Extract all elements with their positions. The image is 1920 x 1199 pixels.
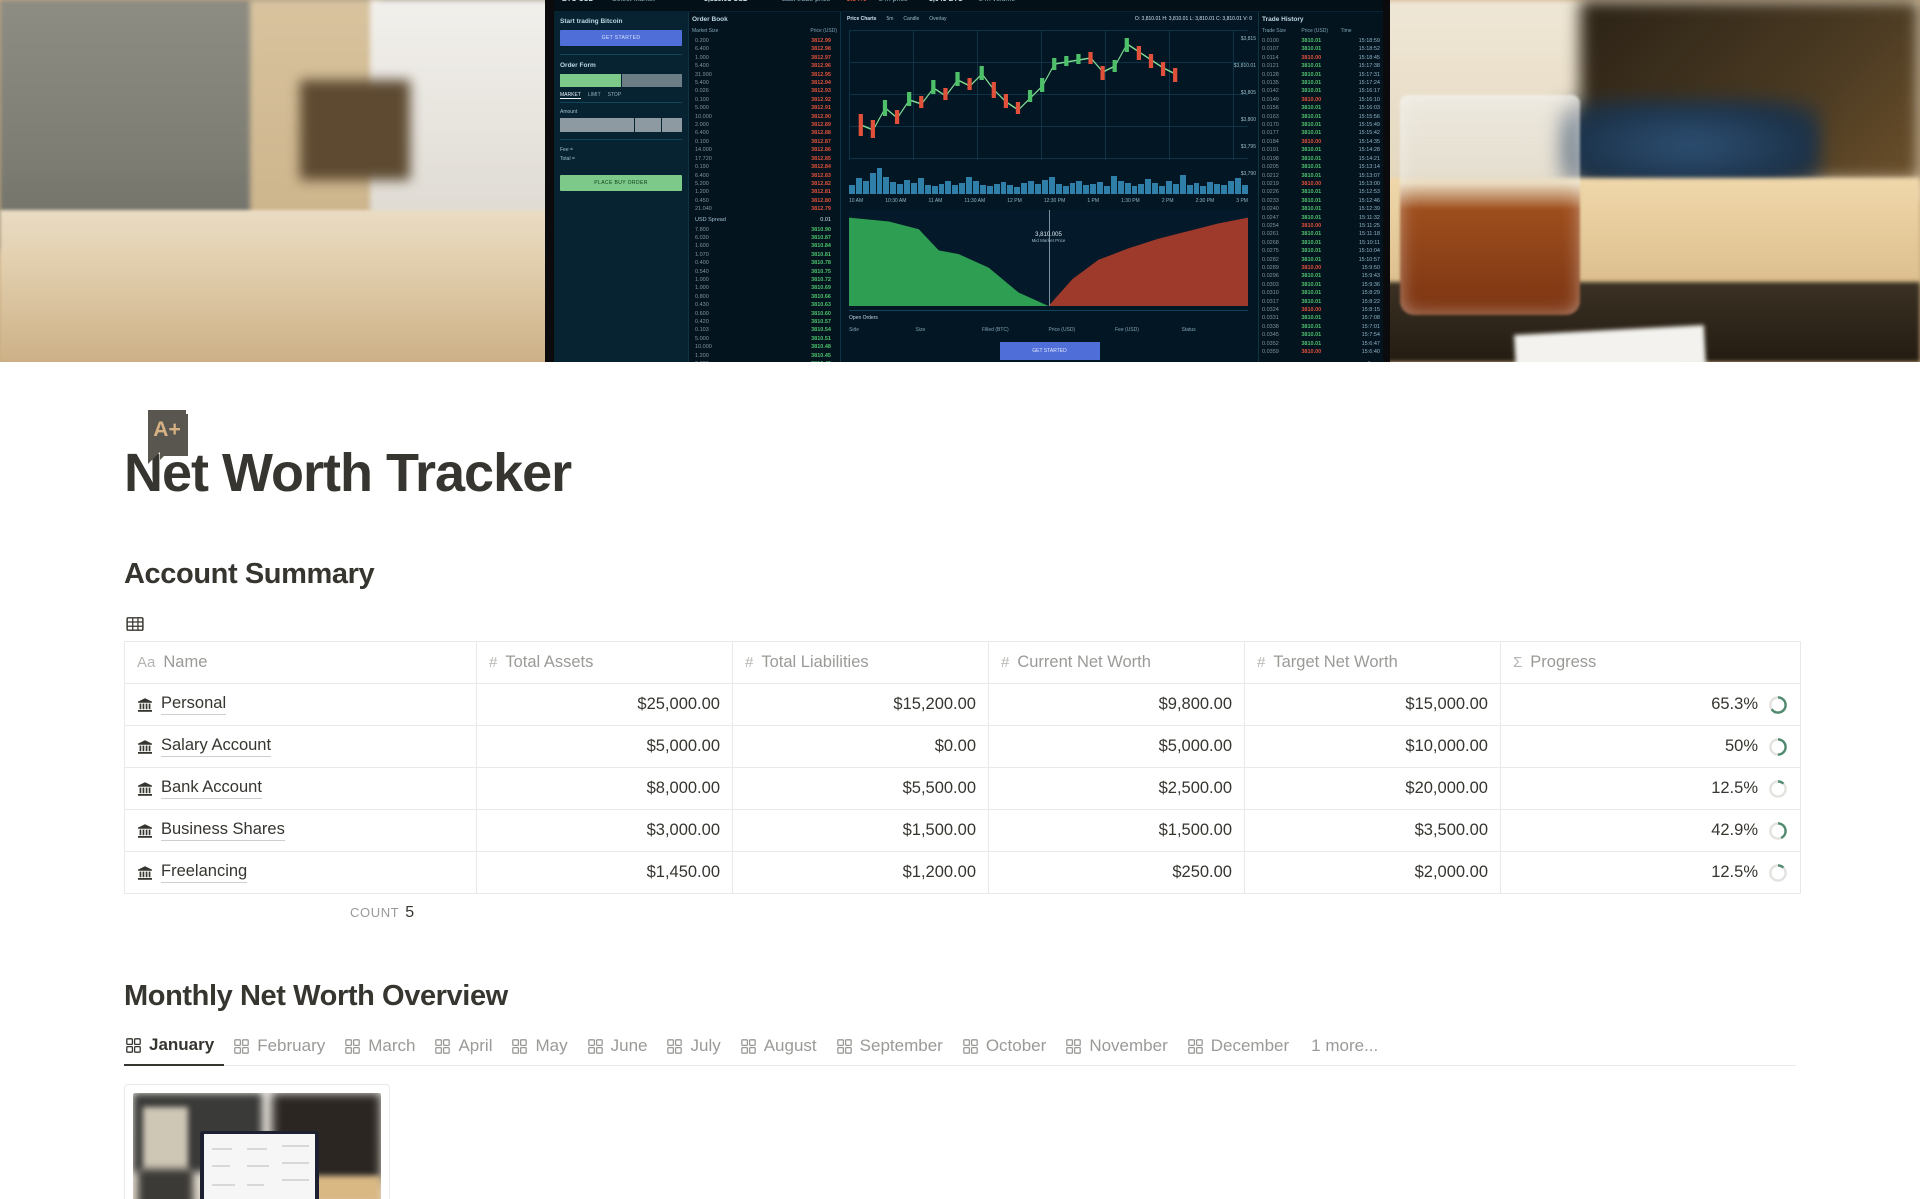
trade-history-column: Price (USD) [1301,28,1340,34]
trade-history-row: 0.02473810.0115:11:32 [1262,214,1380,222]
order-book-bid: 10.0003810.48 [692,343,837,351]
column-label: Total Assets [505,653,593,672]
tab-label: June [611,1036,648,1056]
open-orders-column: Side [849,327,916,333]
order-book-bid: 1.0703810.81 [692,251,837,259]
column-header-total-assets[interactable]: #Total Assets [477,642,733,684]
order-book-ask: 5.4003812.96 [692,62,837,70]
trade-history-row: 0.03103810.0115:8:29 [1262,289,1380,297]
time-tick: 1 PM [1087,198,1099,204]
ticker-symbol: BTC-USD [562,0,594,3]
trade-history-row: 0.01003810.0115:18:59 [1262,37,1380,45]
cell-progress[interactable]: 50% [1501,726,1801,768]
trade-history-row: 0.01143810.0015:18:45 [1262,54,1380,62]
cell-target-net-worth[interactable]: $20,000.00 [1245,768,1501,810]
tab-label: July [690,1036,720,1056]
column-header-progress[interactable]: ΣProgress [1501,642,1801,684]
trade-history-row: 0.01633810.0115:15:56 [1262,113,1380,121]
trade-history-row: 0.02263810.0115:12:53 [1262,188,1380,196]
tab-july[interactable]: July [657,1036,730,1065]
open-orders-section: Open Orders SideSizeFilled (BTC)Price (U… [849,310,1248,333]
tab-label: February [257,1036,325,1056]
trade-history-row: 0.03383810.0115:7:01 [1262,323,1380,331]
gallery-view-icon [667,1039,682,1054]
order-book-ask: 5.0003812.91 [692,104,837,112]
order-book-ask: 0.1003812.92 [692,96,837,104]
trade-history-row: 0.02193810.0015:13:00 [1262,180,1380,188]
trade-history-row: 0.01773810.0115:15:42 [1262,129,1380,137]
progress-label: 42.9% [1711,821,1758,840]
bank-icon [137,823,153,839]
cell-progress[interactable]: 65.3% [1501,684,1801,726]
progress-ring [1768,863,1788,883]
progress-label: 12.5% [1711,863,1758,882]
order-book-bid: 0.5403810.75 [692,268,837,276]
order-book-ask: 5.4003812.94 [692,79,837,87]
time-tick: 11:30 AM [964,198,985,204]
trade-history-row: 0.02123810.0115:13:07 [1262,172,1380,180]
trade-panel: Start trading Bitcoin GET STARTED Order … [554,12,689,362]
order-book-ask: 0.1903812.84 [692,163,837,171]
trade-history-row: 0.02823810.0115:10:57 [1262,256,1380,264]
coffee-jar [1400,95,1580,315]
cell-total-liabilities[interactable]: $1,200.00 [733,852,989,894]
progress-label: 12.5% [1711,779,1758,798]
trade-history-row: 0.01563810.0115:16:03 [1262,104,1380,112]
cell-total-liabilities[interactable]: $1,500.00 [733,810,989,852]
trade-history-row: 0.02053810.0115:13:14 [1262,163,1380,171]
depth-chart: 3,810.005 Mid Market Price [849,210,1248,306]
trade-history-row: 0.01913810.0115:14:28 [1262,146,1380,154]
cell-progress[interactable]: 42.9% [1501,810,1801,852]
bank-icon [137,697,153,713]
order-book-bid: 0.8003810.66 [692,293,837,301]
time-tick: 2 PM [1162,198,1174,204]
order-tab-market: MARKET [560,92,581,99]
gallery-view-icon [963,1039,978,1054]
volume-bars [849,164,1248,194]
order-book-bid: 0.8003810.42 [692,360,837,362]
notebook-a-plus-icon: A+ [140,406,208,474]
order-tab-limit: LIMIT [588,92,601,99]
order-book-bid: 7.8003810.90 [692,226,837,234]
cell-total-liabilities[interactable]: $0.00 [733,726,989,768]
trade-history-row: 0.02963810.0115:9:43 [1262,272,1380,280]
trade-history-row: 0.02403810.0115:12:39 [1262,205,1380,213]
tab-june[interactable]: June [578,1036,658,1065]
cell-current-net-worth[interactable]: $2,500.00 [989,768,1245,810]
gallery-view-icon [837,1039,852,1054]
column-label: Progress [1530,653,1596,672]
order-book-ask: 6.4003812.88 [692,129,837,137]
cell-name[interactable]: Business Shares [125,810,477,852]
order-book-ask: 0.0263812.93 [692,87,837,95]
tab-label: April [458,1036,492,1056]
price-chart-panel: Price Charts 5m Candle Overlay O: 3,810.… [841,12,1258,362]
time-tick: 1:30 PM [1121,198,1140,204]
tab-label: August [764,1036,817,1056]
tab-may[interactable]: May [502,1036,577,1065]
order-book-bid: 1.2003810.45 [692,352,837,360]
cell-total-assets[interactable]: $25,000.00 [477,684,733,726]
cell-total-liabilities[interactable]: $15,200.00 [733,684,989,726]
order-book-ask: 6.4003812.83 [692,172,837,180]
table-header-row: AaName #Total Assets #Total Liabilities … [125,642,1801,684]
order-book-ask: 0.2003812.99 [692,37,837,45]
time-tick: 3 PM [1236,198,1248,204]
trade-history-row: 0.02683810.0115:10:11 [1262,239,1380,247]
column-label: Total Liabilities [761,653,868,672]
cell-total-assets[interactable]: $3,000.00 [477,810,733,852]
trade-history-row: 0.01983810.0115:14:21 [1262,155,1380,163]
chart-interval: 5m [886,16,893,22]
volume-label: 24h volume [979,0,1015,3]
gallery-view [124,1084,1920,1199]
chart-ohlc: O: 3,810.01 H: 3,810.01 L: 3,810.01 C: 3… [1135,16,1252,22]
fee-label: Fee = [560,147,682,153]
cell-target-net-worth[interactable]: $10,000.00 [1245,726,1501,768]
gallery-card[interactable] [124,1084,390,1199]
trade-history-column: Time [1341,28,1380,34]
cell-current-net-worth[interactable]: $5,000.00 [989,726,1245,768]
page-icon[interactable]: A+ [140,406,208,474]
bank-icon [137,865,153,881]
order-book-title: Order Book [692,16,837,23]
trade-history-row: 0.01213810.0115:17:38 [1262,62,1380,70]
chart-overlay: Overlay [929,16,946,22]
trade-history-row: 0.02893810.0015:9:50 [1262,264,1380,272]
cell-target-net-worth[interactable]: $2,000.00 [1245,852,1501,894]
trade-history-row: 0.02753810.0115:10:04 [1262,247,1380,255]
order-book-ask: 0.1003812.87 [692,138,837,146]
table-row[interactable]: Freelancing$1,450.00$1,200.00$250.00$2,0… [125,852,1801,894]
gallery-view-icon [126,1038,141,1053]
trade-history-row: 0.03453810.0115:7:54 [1262,331,1380,339]
formula-type-icon: Σ [1513,655,1522,670]
count-value: 5 [405,904,415,921]
trade-history-row: 0.01073810.0115:18:52 [1262,45,1380,53]
order-book-ask: 2.0003812.89 [692,121,837,129]
text-type-icon: Aa [137,655,155,670]
trade-history-row: 0.03523810.0115:6:47 [1262,340,1380,348]
time-tick: 2:30 PM [1196,198,1215,204]
order-book-panel: Order Book Market Size Price (USD) 0.200… [689,12,841,362]
total-label: Total = [560,156,682,162]
month-tabs[interactable]: JanuaryFebruaryMarchAprilMayJuneJulyAugu… [124,1035,1796,1066]
buy-toggle [560,74,621,87]
gallery-view-icon [435,1039,450,1054]
gallery-view-icon [345,1039,360,1054]
cell-name[interactable]: Bank Account [125,768,477,810]
gallery-view-icon [512,1039,527,1054]
trade-history-column: Trade Size [1262,28,1301,34]
order-book-bid: 1.0003810.72 [692,276,837,284]
last-price-label: Last trade price [782,0,830,3]
gallery-view-icon [588,1039,603,1054]
number-type-icon: # [1257,655,1265,670]
tab-august[interactable]: August [731,1036,827,1065]
order-book-ask: 31.9003812.95 [692,71,837,79]
tab-april[interactable]: April [425,1036,502,1065]
table-row[interactable]: Salary Account$5,000.00$0.00$5,000.00$10… [125,726,1801,768]
order-book-ask: 6.4003812.98 [692,45,837,53]
column-label: Target Net Worth [1273,653,1397,672]
cell-name[interactable]: Freelancing [125,852,477,894]
candlestick-chart [849,30,1248,160]
table-footer-count[interactable]: Count5 [350,904,1920,922]
cell-current-net-worth[interactable]: $250.00 [989,852,1245,894]
gallery-view-icon [1066,1039,1081,1054]
open-orders-column: Filled (BTC) [982,327,1049,333]
column-header-name[interactable]: AaName [125,642,477,684]
trade-history-row: 0.03243810.0015:8:15 [1262,306,1380,314]
row-name-link[interactable]: Freelancing [161,862,247,883]
sell-toggle [622,74,683,87]
gallery-view-icon [741,1039,756,1054]
order-book-bid: 0.4303810.63 [692,301,837,309]
market-selector: Select Market [612,0,655,3]
order-tab-stop: STOP [608,92,622,99]
tab-label: December [1211,1036,1289,1056]
column-label: Current Net Worth [1017,653,1151,672]
trade-history-row: 0.02543810.0015:11:25 [1262,222,1380,230]
start-trading-title: Start trading Bitcoin [560,18,682,25]
order-book-ask: 1.0003812.97 [692,54,837,62]
number-type-icon: # [745,655,753,670]
order-book-bid: 1.6003810.84 [692,242,837,250]
progress-label: 50% [1725,737,1758,756]
tab-february[interactable]: February [224,1036,335,1065]
card-image [133,1093,381,1199]
trade-history-row: 0.01493810.0015:16:10 [1262,96,1380,104]
chart-type: Candle [903,16,919,22]
time-tick: 10 AM [849,198,863,204]
cell-name[interactable]: Salary Account [125,726,477,768]
tab-label: May [535,1036,567,1056]
order-book-bid: 5.0003810.51 [692,335,837,343]
tab-label: September [860,1036,943,1056]
tab-label: November [1089,1036,1167,1056]
candles-svg [849,30,1248,160]
time-tick: 11 AM [929,198,943,204]
tab-october[interactable]: October [953,1036,1056,1065]
page-body: A+ Net Worth Tracker Account Summary AaN… [0,446,1920,1199]
table-row[interactable]: Bank Account$8,000.00$5,500.00$2,500.00$… [125,768,1801,810]
progress-ring [1768,737,1788,757]
trade-history-row: 0.01423810.0115:16:17 [1262,87,1380,95]
order-book-bid: 0.4003810.78 [692,259,837,267]
time-tick: 12 PM [1007,198,1021,204]
ob-col-price: Price (USD) [765,28,838,34]
open-orders-column: Size [916,327,983,333]
tab-november[interactable]: November [1056,1036,1177,1065]
get-started-button: GET STARTED [560,30,682,46]
table-icon[interactable] [126,615,144,633]
cell-progress[interactable]: 12.5% [1501,768,1801,810]
column-label: Name [163,653,207,672]
account-summary-heading: Account Summary [124,558,1920,591]
number-type-icon: # [489,655,497,670]
trade-history-row: 0.01703810.0115:15:49 [1262,121,1380,129]
cell-total-assets[interactable]: $8,000.00 [477,768,733,810]
time-tick: 12:30 PM [1044,198,1065,204]
trade-history-row: 0.03033810.0115:9:36 [1262,281,1380,289]
trade-history-row: 0.03593810.0015:6:40 [1262,348,1380,356]
progress-label: 65.3% [1711,695,1758,714]
cell-total-assets[interactable]: $1,450.00 [477,852,733,894]
open-orders-column: Price (USD) [1049,327,1116,333]
open-orders-column: Fee (USD) [1115,327,1182,333]
order-book-ask: 0.4503812.80 [692,197,837,205]
row-name-link[interactable]: Business Shares [161,820,285,841]
mid-market-label: Mid Market Price [1032,238,1066,243]
more-tabs-button[interactable]: 1 more... [1299,1036,1388,1065]
column-header-total-liabilities[interactable]: #Total Liabilities [733,642,989,684]
spread-value: 0.01 [763,217,837,223]
tab-september[interactable]: September [827,1036,953,1065]
bank-icon [137,781,153,797]
row-name-link[interactable]: Salary Account [161,736,271,757]
order-form-title: Order Form [560,62,682,69]
progress-ring [1768,821,1788,841]
order-book-ask: 17.7203812.85 [692,155,837,163]
table-body: Personal$25,000.00$15,200.00$9,800.00$15… [125,684,1801,894]
progress-ring [1768,779,1788,799]
open-orders-title: Open Orders [849,315,878,321]
trade-history-row: 0.01283810.0115:17:31 [1262,71,1380,79]
tab-label: October [986,1036,1046,1056]
bank-icon [137,739,153,755]
cell-total-assets[interactable]: $5,000.00 [477,726,733,768]
order-book-ask: 5.2003812.82 [692,180,837,188]
trade-history-row: 0.03313810.0115:7:08 [1262,314,1380,322]
amount-label: Amount [560,109,682,115]
svg-text:A+: A+ [153,418,180,441]
order-book-ask: 14.0003812.86 [692,146,837,154]
trade-history-row: 0.02613810.0115:11:18 [1262,230,1380,238]
time-tick: 10:30 AM [885,198,906,204]
account-summary-table[interactable]: AaName #Total Assets #Total Liabilities … [124,641,1801,894]
trade-history-row: 0.01353810.0115:17:24 [1262,79,1380,87]
monthly-overview-heading: Monthly Net Worth Overview [124,980,1920,1013]
time-axis: 10 AM10:30 AM11 AM11:30 AM12 PM12:30 PM1… [849,198,1248,204]
price-change: -0.64% [844,0,866,3]
count-word: Count [350,905,399,920]
price-change-label: 24h price [879,0,908,3]
row-name-link[interactable]: Personal [161,694,226,715]
row-name-link[interactable]: Bank Account [161,778,262,799]
cell-current-net-worth[interactable]: $1,500.00 [989,810,1245,852]
place-order-button: PLACE BUY ORDER [560,175,682,191]
price-charts-title: Price Charts [847,16,876,22]
column-header-current-net-worth[interactable]: #Current Net Worth [989,642,1245,684]
ob-col-size: Market Size [692,28,765,34]
tab-label: January [149,1035,214,1055]
trade-history-title: Trade History [1262,16,1380,23]
tab-march[interactable]: March [335,1036,425,1065]
order-book-ask: 10.0003812.90 [692,113,837,121]
trading-dashboard-monitor: BTC-USD Select Market 3,810.01 USD Last … [545,0,1390,362]
order-book-bid: 1.0003810.69 [692,284,837,292]
volume-value: 3,043 BTC [929,0,963,3]
spread-label: USD Spread [692,217,763,223]
open-orders-column: Status [1182,327,1249,333]
chart-get-started-button: GET STARTED [1000,342,1100,360]
tab-label: March [368,1036,415,1056]
last-price: 3,810.01 USD [704,0,748,3]
tab-december[interactable]: December [1178,1036,1299,1065]
number-type-icon: # [1001,655,1009,670]
column-header-target-net-worth[interactable]: #Target Net Worth [1245,642,1501,684]
page-title: Net Worth Tracker [124,446,1920,500]
trade-history-row: 0.03173810.0115:8:22 [1262,298,1380,306]
cell-target-net-worth[interactable]: $3,500.00 [1245,810,1501,852]
order-book-bid: 6.0303810.87 [692,234,837,242]
cell-current-net-worth[interactable]: $9,800.00 [989,684,1245,726]
progress-ring [1768,695,1788,715]
gallery-view-icon [234,1039,249,1054]
trade-history-panel: Trade History Trade SizePrice (USD)Time … [1258,12,1383,362]
table-row[interactable]: Personal$25,000.00$15,200.00$9,800.00$15… [125,684,1801,726]
order-book-bid: 0.6003810.60 [692,310,837,318]
cell-target-net-worth[interactable]: $15,000.00 [1245,684,1501,726]
order-book-ask: 21.0403812.79 [692,205,837,213]
order-book-ask: 1.2003812.81 [692,188,837,196]
trade-history-row: 0.01843810.0015:14:35 [1262,138,1380,146]
table-row[interactable]: Business Shares$3,000.00$1,500.00$1,500.… [125,810,1801,852]
order-book-bid: 0.4203810.57 [692,318,837,326]
cell-total-liabilities[interactable]: $5,500.00 [733,768,989,810]
monitor-topbar: BTC-USD Select Market 3,810.01 USD Last … [554,0,1383,12]
cell-progress[interactable]: 12.5% [1501,852,1801,894]
tab-january[interactable]: January [124,1035,224,1066]
page-cover[interactable]: BTC-USD Select Market 3,810.01 USD Last … [0,0,1920,362]
gallery-view-icon [1188,1039,1203,1054]
trade-history-row: 0.02333810.0115:12:46 [1262,197,1380,205]
cell-name[interactable]: Personal [125,684,477,726]
cover-photo: BTC-USD Select Market 3,810.01 USD Last … [0,0,1920,362]
order-book-bid: 0.1033810.54 [692,326,837,334]
